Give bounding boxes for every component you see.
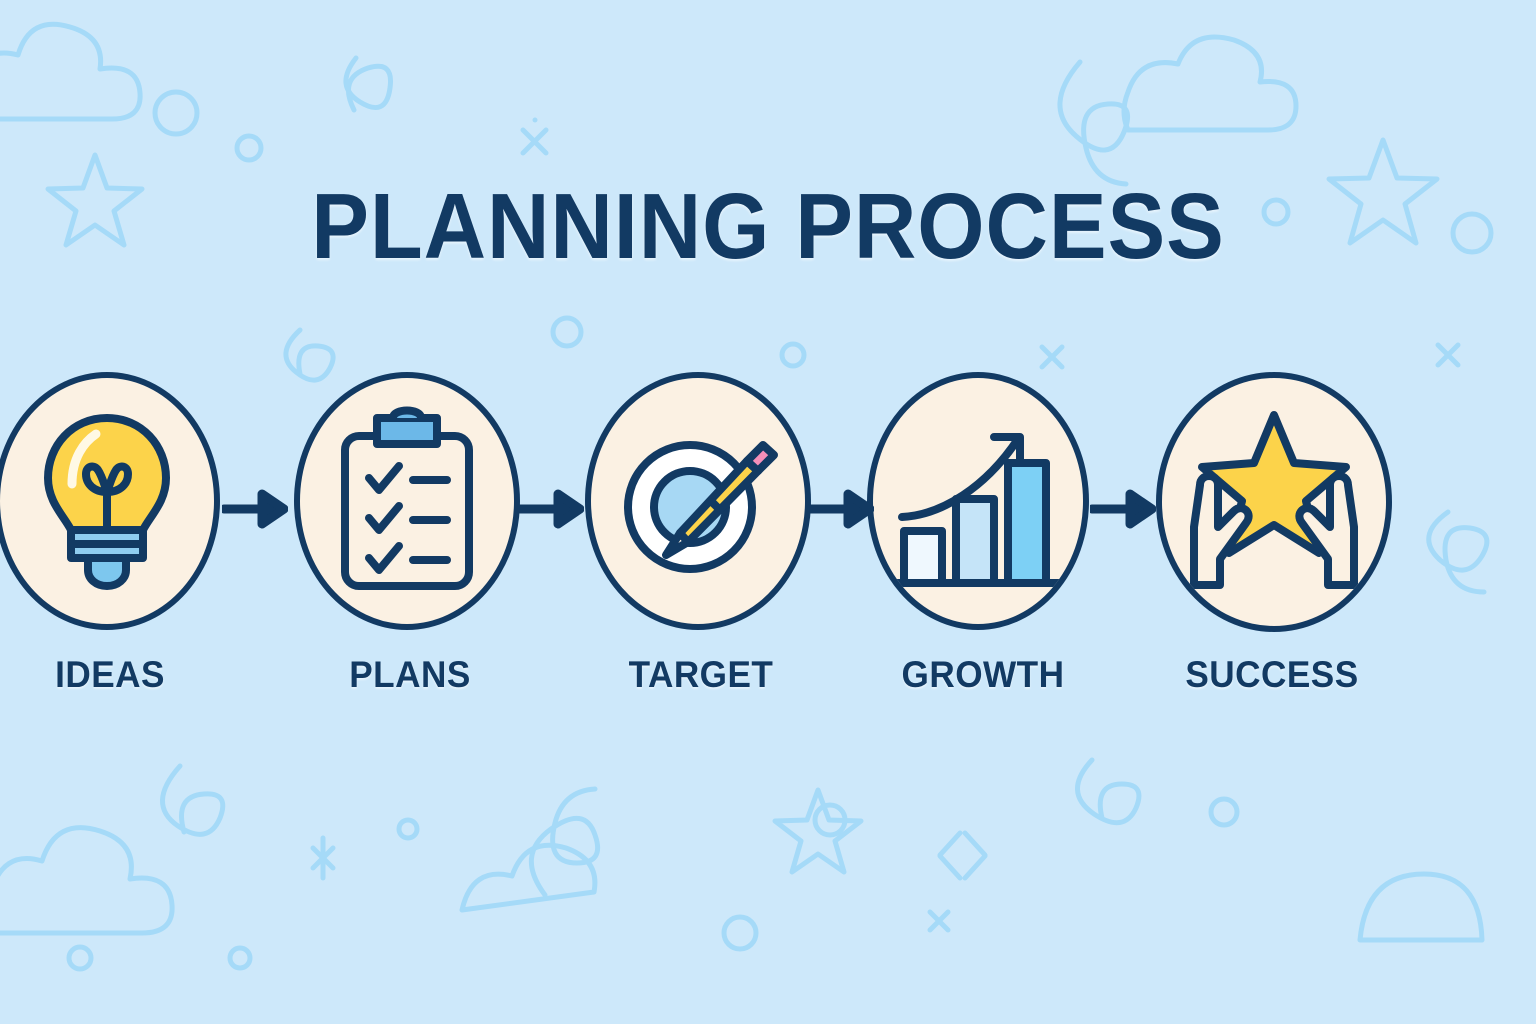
circle-doodle: [230, 948, 250, 968]
squiggle-doodle: [162, 766, 222, 834]
clipboard-checklist-icon: [331, 406, 483, 596]
step-label-growth: GROWTH: [844, 654, 1121, 696]
squiggle-doodle: [531, 789, 597, 895]
cloud-doodle: [0, 24, 140, 119]
icon-circle-target: [585, 372, 811, 630]
circle-doodle: [1211, 799, 1237, 825]
process-step-success[interactable]: SUCCESS: [1156, 372, 1388, 732]
arrow-growth-to-success: [1090, 486, 1156, 532]
step-label-target: TARGET: [562, 654, 839, 696]
process-step-plans[interactable]: PLANS: [294, 372, 526, 732]
arrow-ideas-to-plans: [222, 486, 288, 532]
sparkle-doodle: [1042, 347, 1062, 367]
squiggle-doodle: [346, 58, 391, 110]
circle-doodle: [553, 318, 581, 346]
infographic-canvas: PLANNING PROCESS IDE: [0, 0, 1536, 1024]
cloud-doodle: [0, 828, 172, 933]
sparkle-doodle: [313, 838, 333, 878]
circle-doodle: [237, 136, 261, 160]
arrow-plans-to-target: [518, 486, 584, 532]
sparkle-doodle: [523, 120, 546, 153]
chart-bar-2: [956, 499, 994, 583]
circle-doodle: [69, 947, 91, 969]
icon-circle-plans: [294, 372, 520, 630]
star-outline-doodle: [775, 790, 861, 872]
chart-bar-1: [904, 531, 942, 583]
step-label-plans: PLANS: [271, 654, 548, 696]
circle-doodle: [782, 344, 804, 366]
step-label-success: SUCCESS: [1133, 654, 1410, 696]
icon-circle-ideas: [0, 372, 220, 630]
circle-doodle: [815, 805, 845, 835]
squiggle-doodle: [1077, 760, 1138, 823]
hands-star-icon: [1182, 407, 1366, 597]
process-steps: IDEAS P: [0, 372, 1536, 732]
step-label-ideas: IDEAS: [0, 654, 249, 696]
target-pencil-icon: [608, 411, 788, 591]
process-step-ideas[interactable]: IDEAS: [0, 372, 226, 732]
sparkle-doodle: [940, 833, 985, 878]
icon-circle-growth: [867, 372, 1089, 630]
sparkle-doodle: [930, 912, 948, 930]
chart-bar-3: [1008, 463, 1046, 583]
squiggle-doodle: [1060, 62, 1128, 184]
page-title: PLANNING PROCESS: [54, 176, 1482, 276]
lightbulb-icon: [32, 406, 182, 596]
bar-chart-arrow-icon: [890, 411, 1066, 591]
cloud-doodle: [462, 845, 595, 910]
circle-doodle: [155, 92, 197, 134]
process-step-target[interactable]: TARGET: [585, 372, 817, 732]
cloud-doodle: [1360, 874, 1482, 940]
circle-doodle: [399, 820, 417, 838]
sparkle-doodle: [1438, 345, 1458, 365]
process-step-growth[interactable]: GROWTH: [867, 372, 1099, 732]
circle-doodle: [724, 917, 756, 949]
icon-circle-success: [1156, 372, 1392, 632]
cloud-doodle: [1124, 37, 1296, 130]
arrow-target-to-growth: [808, 486, 874, 532]
